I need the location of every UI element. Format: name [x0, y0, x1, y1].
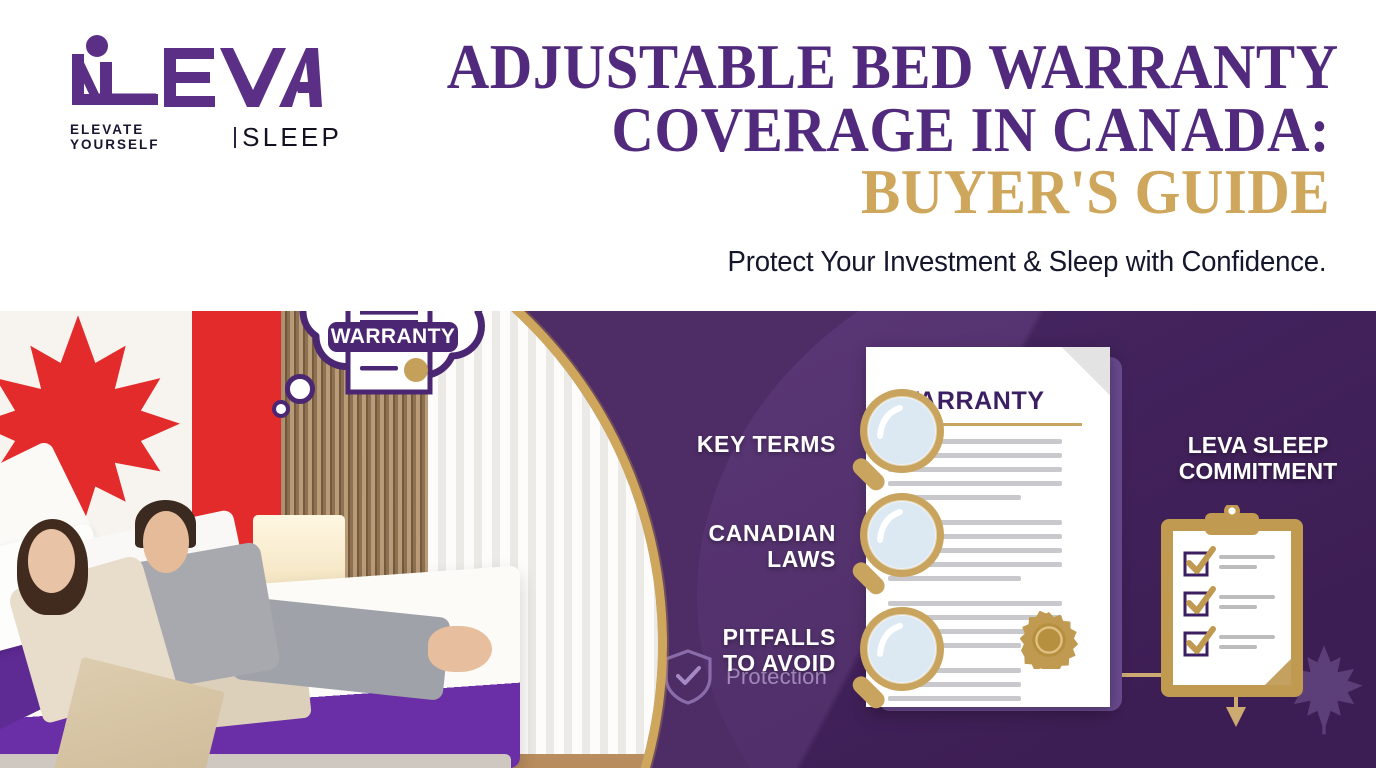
commitment-title: LEVA SLEEP COMMITMENT — [1148, 432, 1368, 485]
header: ELEVATE YOURSELF SLEEP ADJUSTABLE BED WA… — [0, 0, 1376, 311]
brand-logo[interactable]: ELEVATE YOURSELF SLEEP — [52, 26, 342, 156]
step-pitfalls-line2: TO AVOID — [723, 651, 836, 677]
feet — [428, 626, 492, 672]
shield-check-icon — [662, 648, 714, 706]
brand-sub-name: SLEEP — [242, 122, 342, 153]
thought-bubble-dot-small — [272, 400, 290, 418]
brand-tagline-row: ELEVATE YOURSELF SLEEP — [70, 122, 342, 152]
commitment-title-line1: LEVA SLEEP — [1148, 432, 1368, 458]
step-canadian-laws-line2: LAWS — [709, 547, 836, 573]
logo-divider — [234, 127, 236, 148]
thought-bubble-label: WARRANTY — [331, 325, 456, 348]
step-key-terms: KEY TERMS — [697, 432, 836, 458]
magnifier-icon — [840, 490, 960, 610]
magnifier-icon — [840, 386, 960, 506]
step-pitfalls-to-avoid: PITFALLS TO AVOID — [723, 625, 836, 677]
title-line-2: COVERAGE IN CANADA: — [447, 99, 1330, 162]
page-title: ADJUSTABLE BED WARRANTY COVERAGE IN CANA… — [370, 36, 1330, 224]
step-pitfalls-line1: PITFALLS — [723, 625, 836, 651]
step-key-terms-label: KEY TERMS — [697, 431, 836, 457]
infographic-banner: Protection Quality WARRANTY — [0, 0, 1376, 768]
leva-logo-icon — [52, 26, 342, 126]
page-subtitle: Protect Your Investment & Sleep with Con… — [727, 246, 1326, 279]
commitment-title-line2: COMMITMENT — [1148, 458, 1368, 484]
step-canadian-laws: CANADIAN LAWS — [709, 521, 836, 573]
magnifier-icon — [840, 604, 960, 724]
title-line-3: BUYER'S GUIDE — [447, 161, 1330, 224]
clipboard-checklist-icon — [1159, 505, 1305, 697]
man-head — [143, 511, 189, 574]
brand-tagline: ELEVATE YOURSELF — [70, 122, 228, 152]
step-canadian-laws-line1: CANADIAN — [709, 521, 836, 547]
title-line-1: ADJUSTABLE BED WARRANTY — [447, 36, 1330, 99]
gold-wax-seal-icon — [1020, 611, 1078, 669]
